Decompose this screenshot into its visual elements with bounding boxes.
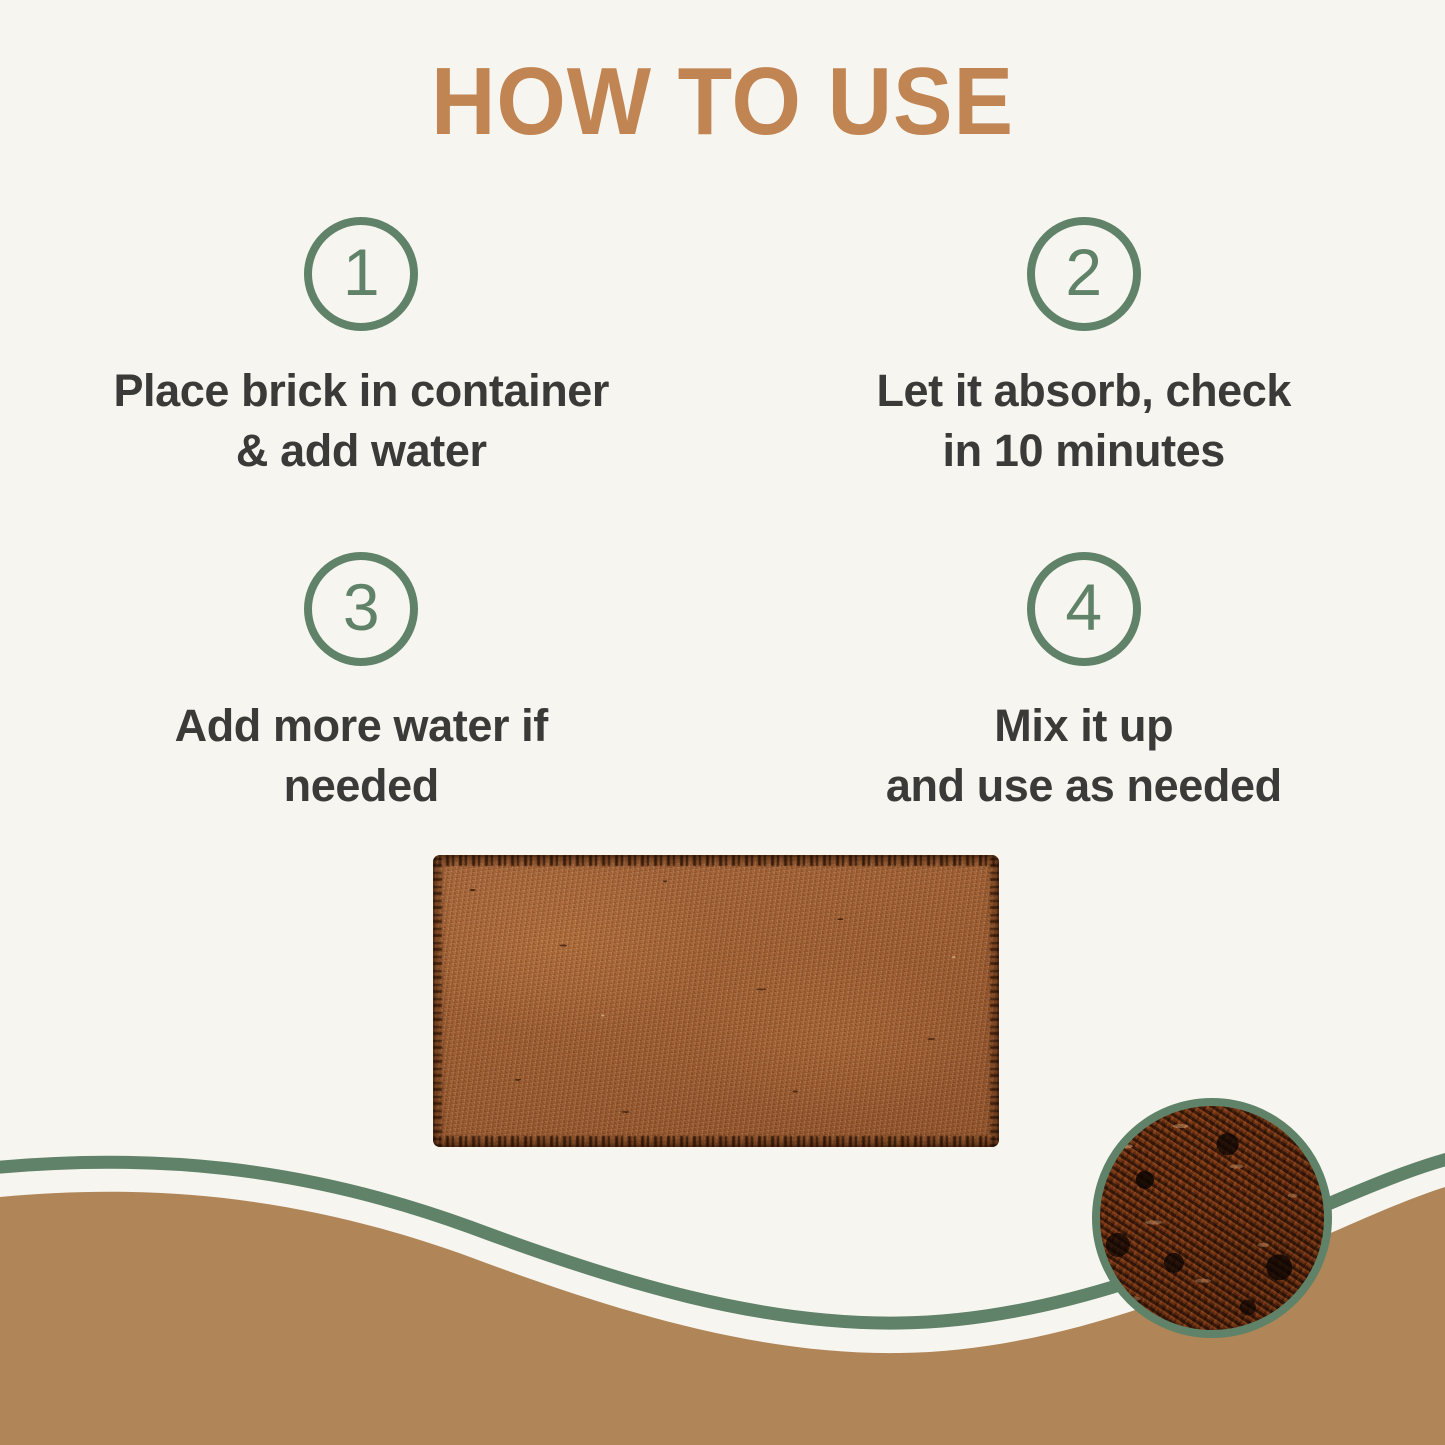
step-label-1: Place brick in container & add water <box>113 361 609 482</box>
infographic-canvas: HOW TO USE 1 Place brick in container & … <box>0 0 1445 1445</box>
brick-edge-right <box>990 855 999 1147</box>
page-title: HOW TO USE <box>51 54 1395 150</box>
step-label-4: Mix it up and use as needed <box>886 696 1282 817</box>
coir-soil-inset-image <box>1092 1098 1332 1338</box>
step-2: 2 Let it absorb, check in 10 minutes <box>723 205 1445 540</box>
step-3: 3 Add more water if needed <box>0 540 723 875</box>
step-1: 1 Place brick in container & add water <box>0 205 723 540</box>
step-number-badge-2: 2 <box>1027 217 1141 331</box>
step-number-badge-1: 1 <box>304 217 418 331</box>
steps-grid: 1 Place brick in container & add water 2… <box>0 205 1445 875</box>
brick-edge-left <box>433 855 442 1147</box>
step-number-badge-4: 4 <box>1027 552 1141 666</box>
step-label-2: Let it absorb, check in 10 minutes <box>876 361 1291 482</box>
brick-edge-bottom <box>433 1136 999 1147</box>
step-4: 4 Mix it up and use as needed <box>723 540 1445 875</box>
coir-brick-image <box>433 855 999 1147</box>
brick-edge-top <box>433 855 999 866</box>
step-number-badge-3: 3 <box>304 552 418 666</box>
step-label-3: Add more water if needed <box>175 696 548 817</box>
